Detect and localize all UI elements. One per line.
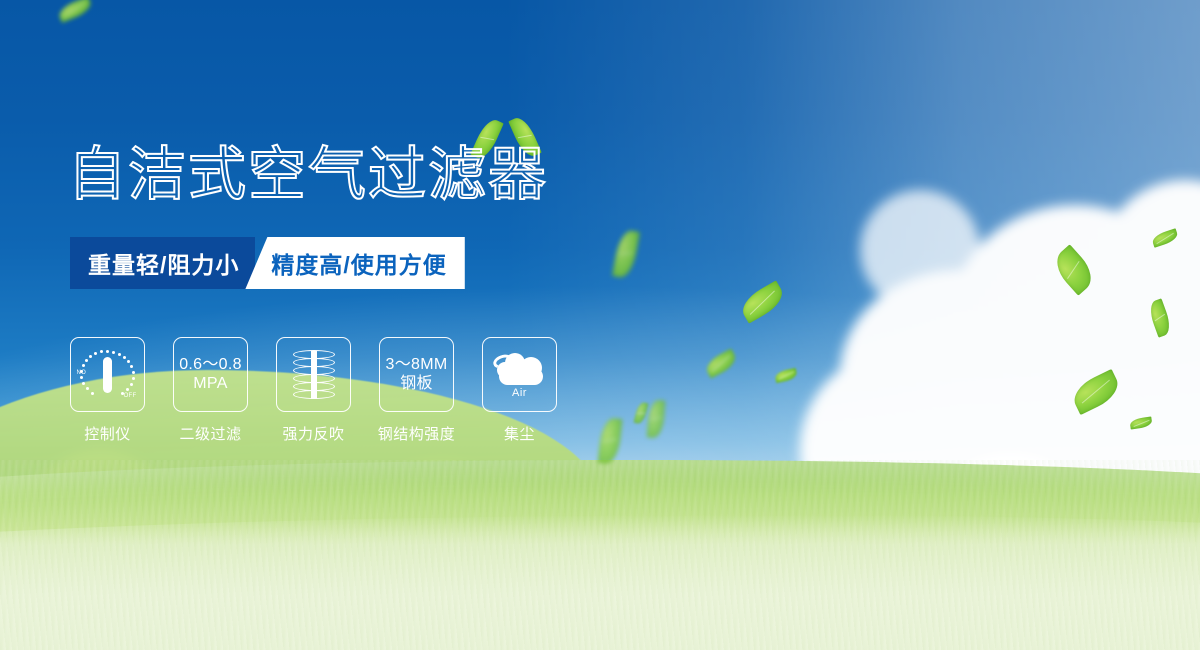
pressure-value-icon: 0.6～0.8 (179, 356, 242, 374)
feature-icon-box[interactable] (276, 337, 351, 412)
grass-foreground (0, 515, 1200, 650)
feature-list: NO OFF 控制仪 0.6～0.8 MPA 二级过滤 (70, 337, 557, 444)
feature-icon-box[interactable]: 3～8MM 钢板 (379, 337, 454, 412)
subtitle-secondary: 精度高/使用方便 (245, 237, 464, 289)
dial-off-label: OFF (124, 393, 137, 399)
feature-label: 集尘 (504, 423, 535, 444)
cloud-air-icon (493, 351, 547, 385)
steel-plate-icon: 3～8MM (386, 356, 448, 374)
feature-icon-box[interactable]: 0.6～0.8 MPA (173, 337, 248, 412)
dial-on-label: NO (77, 370, 87, 376)
leaf-decoration (633, 401, 648, 425)
feature-label: 控制仪 (84, 423, 131, 444)
leaf-decoration (703, 348, 739, 378)
spring-stack-icon (291, 349, 337, 401)
feature-item[interactable]: 3～8MM 钢板 钢结构强度 (379, 337, 454, 444)
steel-plate-text: 钢板 (400, 375, 433, 393)
feature-label: 强力反吹 (282, 423, 344, 444)
leaf-decoration (737, 280, 788, 323)
pressure-unit-text: MPA (193, 375, 227, 393)
feature-icon-box[interactable]: NO OFF (70, 337, 145, 412)
subtitle-primary: 重量轻/阻力小 (70, 237, 255, 289)
leaf-decoration (774, 368, 798, 383)
feature-label: 钢结构强度 (378, 423, 456, 444)
leaf-decoration (647, 399, 666, 438)
feature-item[interactable]: 强力反吹 (276, 337, 351, 444)
leaf-decoration (598, 417, 623, 465)
air-text: Air (512, 387, 527, 399)
feature-icon-box[interactable]: Air (482, 337, 557, 412)
feature-item[interactable]: Air 集尘 (482, 337, 557, 444)
dial-gauge-icon: NO OFF (80, 350, 136, 400)
feature-item[interactable]: NO OFF 控制仪 (70, 337, 145, 444)
leaf-decoration (56, 0, 93, 23)
page-title: 自洁式空气过滤器 (68, 145, 548, 203)
hero-banner: 自洁式空气过滤器 重量轻/阻力小 精度高/使用方便 (0, 0, 1200, 650)
leaf-decoration (612, 229, 640, 280)
feature-label: 二级过滤 (179, 423, 241, 444)
feature-item[interactable]: 0.6～0.8 MPA 二级过滤 (173, 337, 248, 444)
subtitle-bar: 重量轻/阻力小 精度高/使用方便 (70, 237, 465, 289)
